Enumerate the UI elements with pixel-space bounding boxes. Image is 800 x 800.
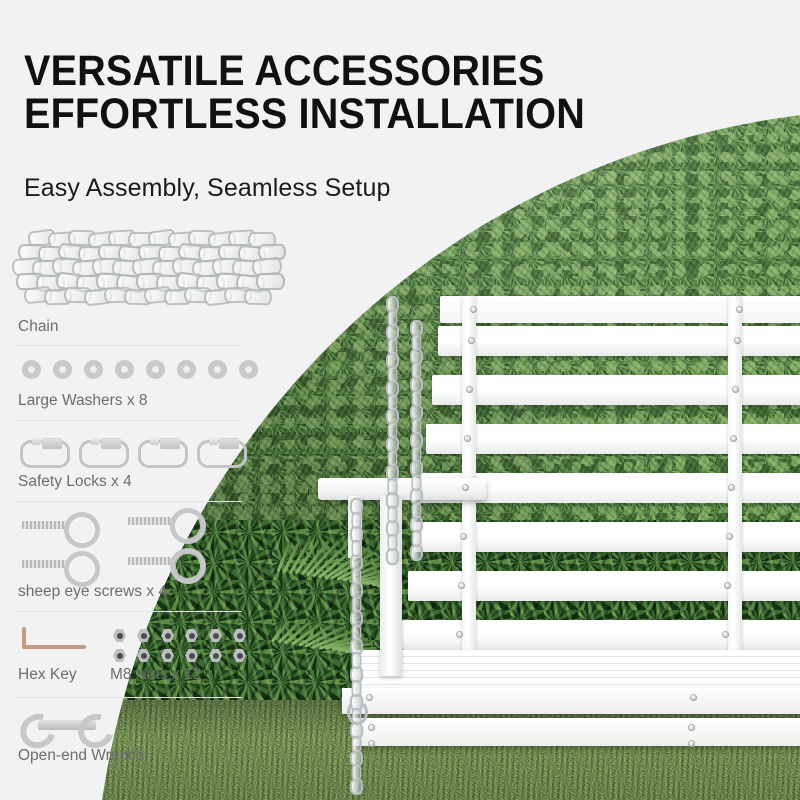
eye-screw-shank — [128, 517, 174, 525]
swing-armrest — [318, 478, 486, 500]
eye-screw-icon — [22, 551, 96, 577]
eye-screw-icon — [22, 512, 96, 538]
screw-icon — [688, 724, 695, 731]
chain-link — [388, 394, 398, 411]
safety-lock-icon — [79, 436, 125, 464]
washer-icon — [208, 360, 227, 379]
chain-link — [388, 422, 398, 439]
lock-sleeve — [101, 436, 121, 449]
chain-link — [388, 450, 398, 467]
chain-hook-icon — [347, 700, 368, 725]
chain-link — [412, 474, 422, 491]
eye-screw-shank — [128, 557, 174, 565]
eye-screw-icon — [128, 548, 202, 574]
nut-icon — [113, 649, 126, 662]
screw-icon — [458, 582, 465, 589]
swing-bottom-rail — [352, 718, 800, 746]
chain-link — [352, 512, 362, 529]
chain-link — [352, 568, 362, 585]
lock-nub — [209, 437, 218, 445]
screw-icon — [464, 435, 471, 442]
headline: VERSATILE ACCESSORIES EFFORTLESS INSTALL… — [24, 50, 539, 135]
hanging-chain — [350, 498, 359, 703]
eye-screw-shank — [22, 560, 68, 568]
washer-icon — [177, 360, 196, 379]
eye-screw-ring — [170, 548, 206, 584]
divider — [16, 420, 242, 421]
headline-line-1: VERSATILE ACCESSORIES — [24, 50, 539, 93]
divider — [16, 345, 242, 346]
divider — [16, 501, 242, 502]
accessory-label: Safety Locks x 4 — [18, 473, 132, 491]
washer-icon — [239, 360, 258, 379]
swing-back-slat — [432, 375, 800, 405]
swing-back-slat — [426, 424, 800, 454]
screw-icon — [690, 694, 697, 701]
washer-icon — [146, 360, 165, 379]
eye-screw-ring — [170, 508, 206, 544]
hanging-chain — [386, 296, 395, 486]
screw-icon — [722, 631, 729, 638]
subtitle: Easy Assembly, Seamless Setup — [24, 174, 391, 203]
accessory-label: M8 Nuts x 12 — [110, 666, 201, 684]
chain-link — [388, 366, 398, 383]
eye-screw-icon — [128, 508, 202, 534]
eye-screw-ring — [64, 512, 100, 548]
accessory-label: sheep eye screws x 4 — [18, 583, 167, 601]
chain-link — [412, 362, 422, 379]
chain-link — [352, 764, 362, 781]
screw-icon — [734, 337, 741, 344]
screw-icon — [728, 484, 735, 491]
washer-icon — [22, 360, 41, 379]
chain-link — [352, 736, 362, 753]
safety-lock-icon — [197, 436, 243, 464]
divider — [16, 611, 242, 612]
chain-link — [388, 338, 398, 355]
screw-icon — [470, 306, 477, 313]
washer-icon — [84, 360, 103, 379]
chain-link — [244, 289, 273, 306]
screw-icon — [462, 484, 469, 491]
screw-icon — [460, 533, 467, 540]
divider — [16, 697, 242, 698]
chain-link — [412, 334, 422, 351]
hex-key-icon — [22, 627, 88, 653]
screw-icon — [736, 306, 743, 313]
chain-link — [412, 446, 422, 463]
screw-icon — [456, 631, 463, 638]
swing-seat-front-edge — [342, 688, 800, 714]
chain-icon — [10, 228, 272, 310]
chain-link — [388, 478, 398, 495]
eye-screw-shank — [22, 521, 68, 529]
chain-link — [412, 502, 422, 519]
screw-icon — [366, 694, 373, 701]
screw-icon — [368, 740, 375, 747]
chain-link — [352, 624, 362, 641]
chain-link — [352, 540, 362, 557]
lock-nub — [150, 437, 159, 445]
accessory-label: Large Washers x 8 — [18, 392, 148, 410]
lock-sleeve — [42, 436, 62, 449]
screw-icon — [688, 740, 695, 747]
washer-icon — [115, 360, 134, 379]
swing-top-rail — [440, 296, 800, 323]
lock-nub — [91, 437, 100, 445]
hex-key-long-arm — [22, 645, 86, 649]
chain-link — [352, 652, 362, 669]
eye-screw-ring — [64, 551, 100, 587]
lock-sleeve — [160, 436, 180, 449]
chain-link — [352, 596, 362, 613]
screw-icon — [732, 386, 739, 393]
wrench-icon — [20, 712, 114, 738]
hanging-chain — [410, 320, 419, 485]
screw-icon — [368, 724, 375, 731]
accessory-label: Chain — [18, 318, 59, 336]
swing-back-slat — [438, 326, 800, 356]
accessory-label: Hex Key — [18, 666, 77, 684]
chain-link — [256, 273, 285, 291]
headline-line-2: EFFORTLESS INSTALLATION — [24, 93, 539, 136]
washer-icon — [53, 360, 72, 379]
nut-icon — [113, 629, 126, 642]
chain-link — [412, 418, 422, 435]
chain-link — [388, 310, 398, 327]
swing-seat — [352, 650, 800, 692]
chain-link — [352, 680, 362, 697]
accessory-label: Open-end Wrench — [18, 747, 144, 765]
chain-link — [388, 506, 398, 523]
chain-link — [412, 390, 422, 407]
lock-sleeve — [219, 436, 239, 449]
screw-icon — [466, 386, 473, 393]
screw-icon — [724, 582, 731, 589]
promo-banner: VERSATILE ACCESSORIES EFFORTLESS INSTALL… — [0, 0, 800, 800]
screw-icon — [468, 337, 475, 344]
chain-link — [412, 530, 422, 547]
screw-icon — [726, 533, 733, 540]
lock-nub — [32, 437, 41, 445]
screw-icon — [730, 435, 737, 442]
safety-lock-icon — [20, 436, 66, 464]
safety-lock-icon — [138, 436, 184, 464]
chain-link — [388, 534, 398, 551]
